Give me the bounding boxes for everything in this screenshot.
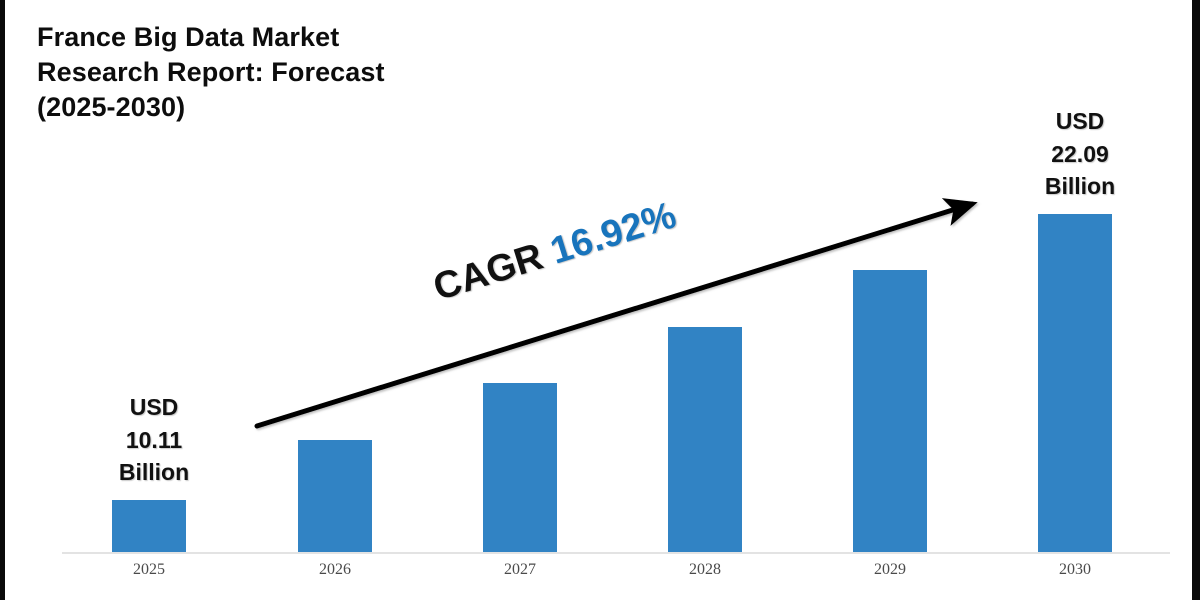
frame-edge-right <box>1192 0 1200 600</box>
bar-2030 <box>1038 214 1112 553</box>
bar-2028 <box>668 327 742 553</box>
x-tick-label-2026: 2026 <box>275 561 395 579</box>
bar-2027 <box>483 383 557 553</box>
bar-2026 <box>298 440 372 553</box>
chart-title: France Big Data Market Research Report: … <box>37 20 657 124</box>
x-tick-label-2027: 2027 <box>460 561 580 579</box>
chart-canvas: France Big Data Market Research Report: … <box>0 0 1200 600</box>
value-callout-end: USD 22.09 Billion <box>1005 105 1155 203</box>
x-tick-label-2025: 2025 <box>89 561 209 579</box>
x-tick-label-2029: 2029 <box>830 561 950 579</box>
x-tick-label-2030: 2030 <box>1015 561 1135 579</box>
x-tick-label-2028: 2028 <box>645 561 765 579</box>
chart-title-line-1: France Big Data Market <box>37 20 657 55</box>
bar-2029 <box>853 270 927 553</box>
cagr-label: CAGR <box>429 236 548 309</box>
chart-title-line-2: Research Report: Forecast <box>37 55 657 90</box>
value-callout-end-line-2: 22.09 <box>1005 138 1155 171</box>
cagr-annotation: CAGR 16.92% <box>429 194 682 310</box>
cagr-value: 16.92% <box>546 194 682 272</box>
value-callout-start-line-3: Billion <box>79 456 229 489</box>
value-callout-end-line-1: USD <box>1005 105 1155 138</box>
axis-baseline <box>62 552 1170 554</box>
value-callout-start-line-2: 10.11 <box>79 424 229 457</box>
plot-surface: France Big Data Market Research Report: … <box>5 0 1192 600</box>
value-callout-start-line-1: USD <box>79 391 229 424</box>
value-callout-end-line-3: Billion <box>1005 170 1155 203</box>
chart-title-line-3: (2025-2030) <box>37 90 657 125</box>
value-callout-start: USD 10.11 Billion <box>79 391 229 489</box>
bar-2025 <box>112 500 186 553</box>
